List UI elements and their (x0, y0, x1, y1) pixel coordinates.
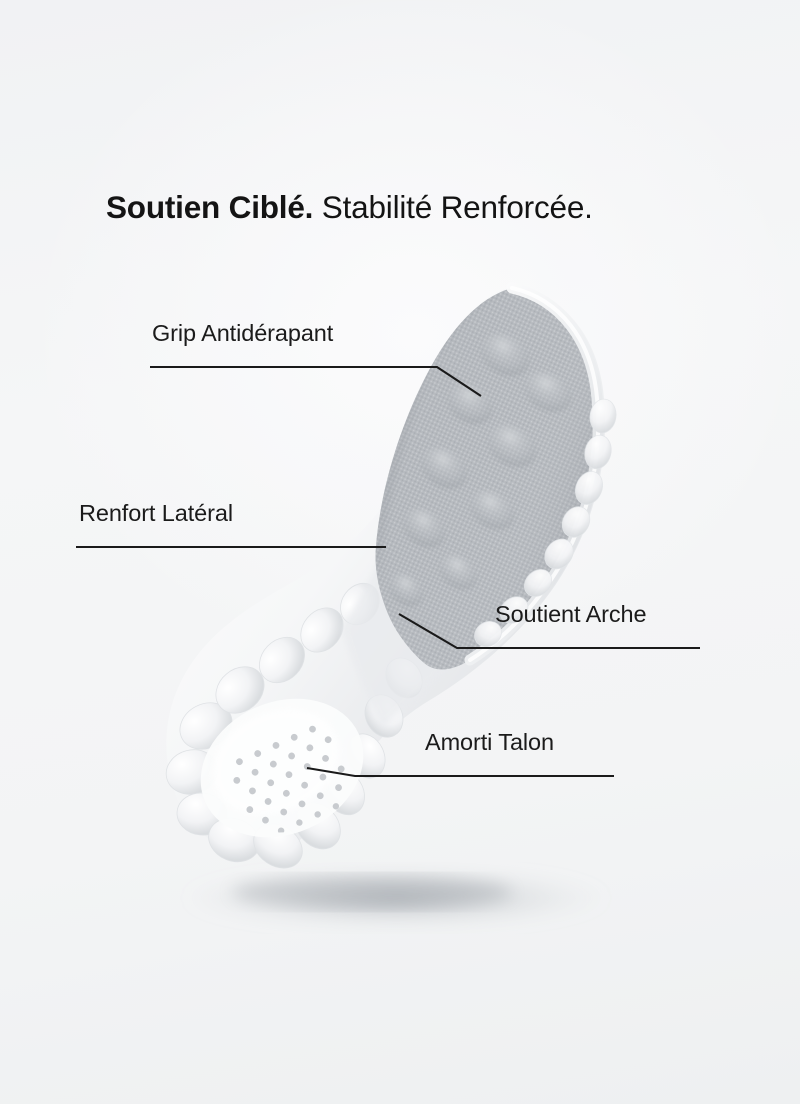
insole-foam-body (161, 286, 605, 877)
heel-perforations (226, 721, 359, 844)
callout-label-arche: Soutient Arche (495, 601, 646, 628)
insole-product-image (0, 0, 800, 1104)
callout-label-grip: Grip Antidérapant (152, 320, 333, 347)
leader-lines (76, 367, 700, 776)
leader-line-amorti (307, 768, 614, 776)
callout-label-renfort: Renfort Latéral (79, 500, 233, 527)
callout-label-amorti: Amorti Talon (425, 729, 554, 756)
headline-regular: Stabilité Renforcée. (322, 189, 593, 225)
cushion-pads (382, 326, 578, 613)
product-shadow (184, 868, 608, 928)
headline-bold: Soutien Ciblé. (106, 189, 313, 225)
product-infographic: Soutien Ciblé. Stabilité Renforcée. (0, 0, 800, 1104)
leader-line-grip (150, 367, 481, 396)
page-title: Soutien Ciblé. Stabilité Renforcée. (106, 190, 746, 225)
